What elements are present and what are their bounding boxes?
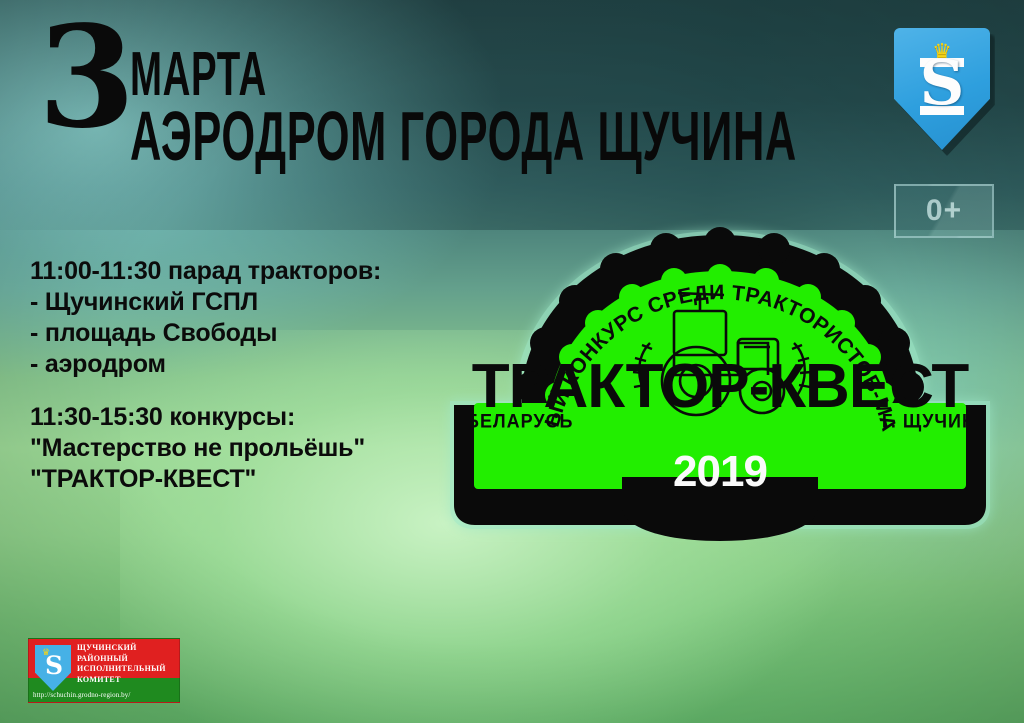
event-venue-label: АЭРОДРОМ ГОРОДА ЩУЧИНА bbox=[130, 104, 797, 168]
sponsor-schuchin-rik[interactable]: ♛ S ЩУЧИНСКИЙ РАЙОННЫЙ ИСПОЛНИТЕЛЬНЫЙ КО… bbox=[28, 638, 180, 703]
rik-line: РАЙОННЫЙ bbox=[77, 654, 166, 665]
poster-header: 3 МАРТА АЭРОДРОМ ГОРОДА ЩУЧИНА bbox=[0, 14, 760, 174]
schedule-group-contests: 11:30-15:30 конкурсы: "Мастерство не про… bbox=[30, 402, 470, 495]
header-text-block: МАРТА АЭРОДРОМ ГОРОДА ЩУЧИНА bbox=[130, 48, 1024, 168]
coat-of-arms: ♛ S bbox=[894, 28, 990, 150]
rik-monogram: S bbox=[45, 653, 63, 678]
emblem-shape: 1-Й РАЙОННЫЙ КОНКУРС СРЕДИ ТРАКТОРИСТОВ-… bbox=[438, 215, 1002, 545]
rik-text-block: ЩУЧИНСКИЙ РАЙОННЫЙ ИСПОЛНИТЕЛЬНЫЙ КОМИТЕ… bbox=[77, 643, 166, 685]
tractor-quest-emblem: 1-Й РАЙОННЫЙ КОНКУРС СРЕДИ ТРАКТОРИСТОВ-… bbox=[438, 215, 1002, 545]
schedule-line: "ТРАКТОР-КВЕСТ" bbox=[30, 464, 470, 495]
schedule-line: "Мастерство не прольёшь" bbox=[30, 433, 470, 464]
schedule-line: - аэродром bbox=[30, 349, 470, 380]
coat-of-arms-monogram: S bbox=[920, 52, 965, 114]
rik-line: ИСПОЛНИТЕЛЬНЫЙ bbox=[77, 664, 166, 675]
poster-canvas: 3 МАРТА АЭРОДРОМ ГОРОДА ЩУЧИНА ♛ S 0+ 11… bbox=[0, 0, 1024, 723]
event-month-label: МАРТА bbox=[130, 48, 797, 102]
schedule-group-parade: 11:00-11:30 парад тракторов: - Щучинский… bbox=[30, 256, 470, 380]
schedule-line: - площадь Свободы bbox=[30, 318, 470, 349]
schedule-block: 11:00-11:30 парад тракторов: - Щучинский… bbox=[30, 256, 470, 517]
sponsor-logos-row: ♛ S ЩУЧИНСКИЙ РАЙОННЫЙ ИСПОЛНИТЕЛЬНЫЙ КО… bbox=[0, 618, 1024, 723]
event-day-number: 3 bbox=[38, 24, 131, 133]
schedule-line: 11:30-15:30 конкурсы: bbox=[30, 402, 470, 433]
rik-line: КОМИТЕТ bbox=[77, 675, 166, 686]
rik-line: ЩУЧИНСКИЙ bbox=[77, 643, 166, 654]
schedule-line: - Щучинский ГСПЛ bbox=[30, 287, 470, 318]
schedule-line: 11:00-11:30 парад тракторов: bbox=[30, 256, 470, 287]
rik-website-url[interactable]: http://schuchin.grodno-region.by/ bbox=[33, 691, 130, 699]
